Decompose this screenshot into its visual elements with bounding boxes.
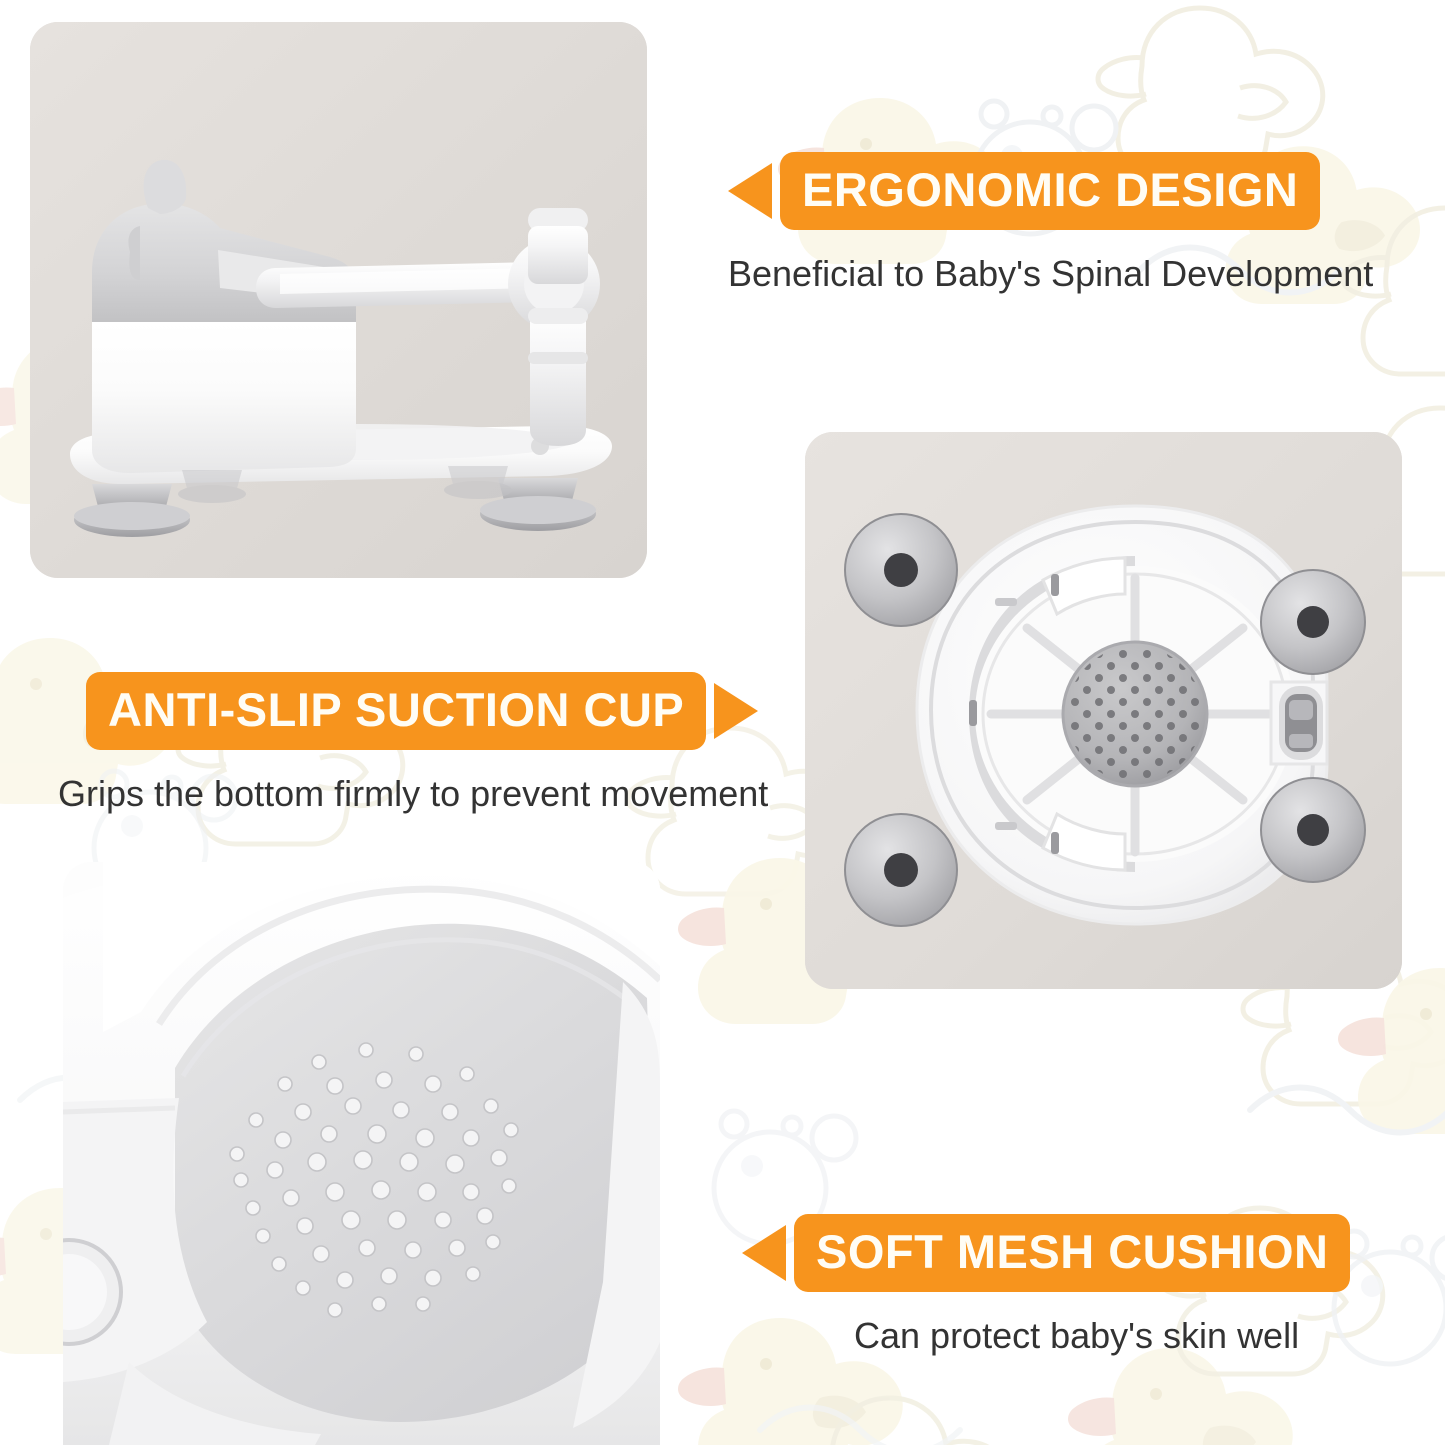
feature-badge-label: SOFT MESH CUSHION <box>794 1214 1350 1292</box>
feature-badge-label: ANTI-SLIP SUCTION CUP <box>86 672 706 750</box>
badge-row: ERGONOMIC DESIGN <box>728 152 1373 230</box>
feature-subtitle: Can protect baby's skin well <box>854 1316 1350 1356</box>
feature-anti-slip-suction-cup: ANTI-SLIP SUCTION CUP Grips the bottom f… <box>86 672 768 814</box>
badge-row: SOFT MESH CUSHION <box>742 1214 1350 1292</box>
arrow-right-icon <box>714 683 758 739</box>
feature-subtitle: Grips the bottom firmly to prevent movem… <box>58 774 768 814</box>
badge-row: ANTI-SLIP SUCTION CUP <box>86 672 768 750</box>
feature-ergonomic-design: ERGONOMIC DESIGN Beneficial to Baby's Sp… <box>728 152 1373 294</box>
feature-badge-label: ERGONOMIC DESIGN <box>780 152 1320 230</box>
product-photo-mesh-cushion <box>63 862 660 1445</box>
product-photo-side-view: .......... <box>30 22 647 578</box>
product-photo-bottom-view <box>805 432 1402 989</box>
arrow-left-icon <box>728 163 772 219</box>
arrow-left-icon <box>742 1225 786 1281</box>
feature-soft-mesh-cushion: SOFT MESH CUSHION Can protect baby's ski… <box>742 1214 1350 1356</box>
feature-subtitle: Beneficial to Baby's Spinal Development <box>728 254 1373 294</box>
